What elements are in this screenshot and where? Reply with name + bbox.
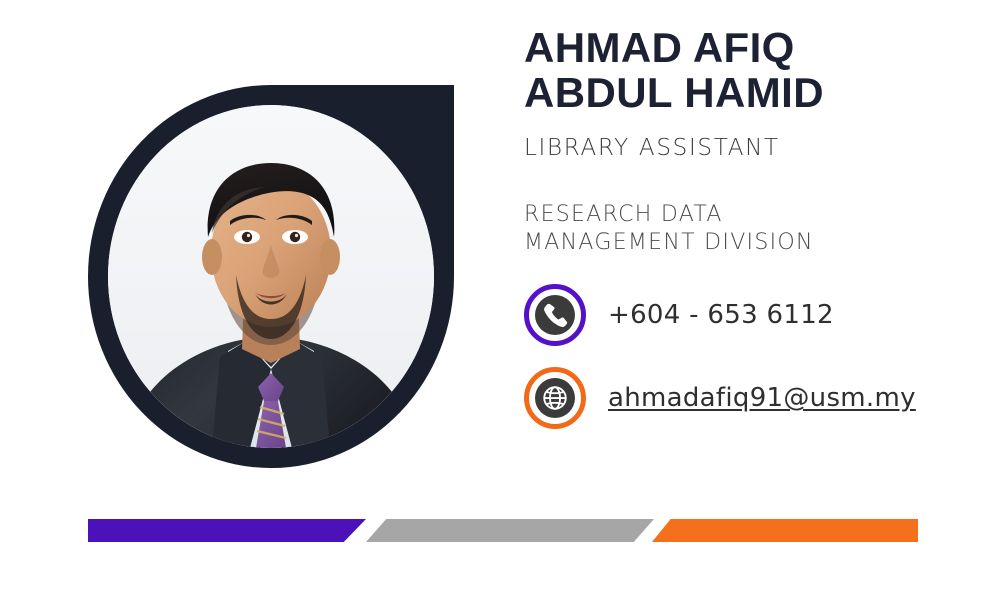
portrait-photo xyxy=(108,105,434,448)
person-name: AHMAD AFIQ ABDUL HAMID xyxy=(524,26,974,116)
name-line-2: ABDUL HAMID xyxy=(524,71,974,116)
job-title: LIBRARY ASSISTANT xyxy=(524,135,974,161)
division-line-2: MANAGEMENT DIVISION xyxy=(524,229,974,257)
info-column: AHMAD AFIQ ABDUL HAMID LIBRARY ASSISTANT… xyxy=(524,26,974,450)
name-line-1: AHMAD AFIQ xyxy=(524,24,795,71)
contact-list: +604 - 653 6112 ahmadafiq xyxy=(524,284,974,429)
contact-row-email: ahmadafiq91@usm.my xyxy=(524,367,974,429)
accent-bar-orange xyxy=(652,519,918,542)
phone-icon xyxy=(541,301,569,329)
photo-clip xyxy=(108,105,434,448)
business-card: AHMAD AFIQ ABDUL HAMID LIBRARY ASSISTANT… xyxy=(0,0,1004,590)
contact-row-phone: +604 - 653 6112 xyxy=(524,284,974,346)
globe-icon xyxy=(540,383,570,413)
accent-bar-purple xyxy=(88,519,366,542)
photo-block xyxy=(88,85,454,468)
accent-bar-gray xyxy=(366,519,654,542)
email-address[interactable]: ahmadafiq91@usm.my xyxy=(608,383,916,413)
bottom-accent-bars xyxy=(0,519,1004,542)
globe-icon-badge xyxy=(524,367,586,429)
phone-icon-badge xyxy=(524,284,586,346)
division: RESEARCH DATA MANAGEMENT DIVISION xyxy=(524,201,974,256)
phone-number[interactable]: +604 - 653 6112 xyxy=(608,300,834,330)
division-line-1: RESEARCH DATA xyxy=(524,202,723,227)
